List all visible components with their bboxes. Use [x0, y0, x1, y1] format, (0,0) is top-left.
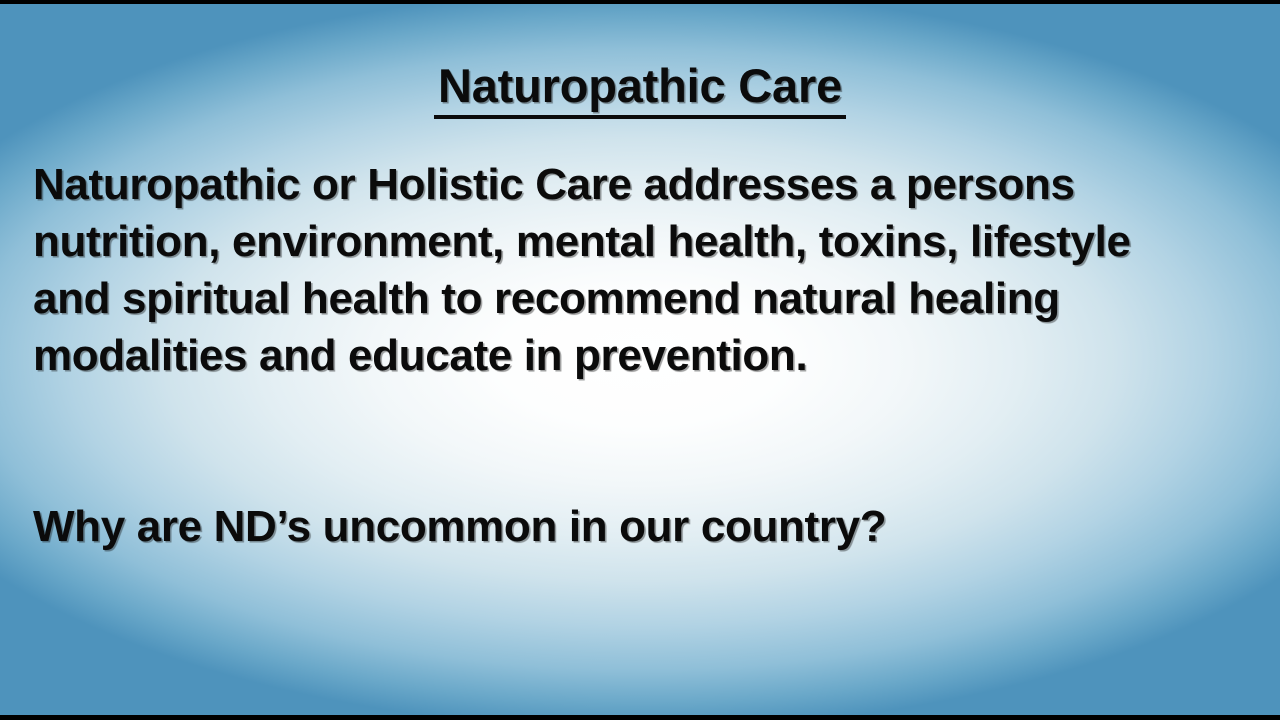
body-paragraph-line: and spiritual health to recommend natura…	[33, 270, 1265, 327]
body-paragraph: Naturopathic or Holistic Care addresses …	[33, 156, 1265, 384]
body-paragraph-line: modalities and educate in prevention.	[33, 327, 1265, 384]
body-paragraph-line: Naturopathic or Holistic Care addresses …	[33, 156, 1265, 213]
presentation-slide: Naturopathic Care Naturopathic or Holist…	[0, 0, 1280, 720]
letterbox-bar-top	[0, 0, 1280, 4]
letterbox-bar-bottom	[0, 715, 1280, 720]
question-paragraph-line: Why are ND’s uncommon in our country?	[33, 498, 1265, 555]
slide-content: Naturopathic Care Naturopathic or Holist…	[0, 4, 1280, 715]
slide-title: Naturopathic Care	[0, 60, 1280, 119]
body-paragraph-line: nutrition, environment, mental health, t…	[33, 213, 1265, 270]
slide-title-text: Naturopathic Care	[434, 60, 846, 119]
question-paragraph: Why are ND’s uncommon in our country?	[33, 498, 1265, 555]
slide-background-gradient: Naturopathic Care Naturopathic or Holist…	[0, 4, 1280, 715]
